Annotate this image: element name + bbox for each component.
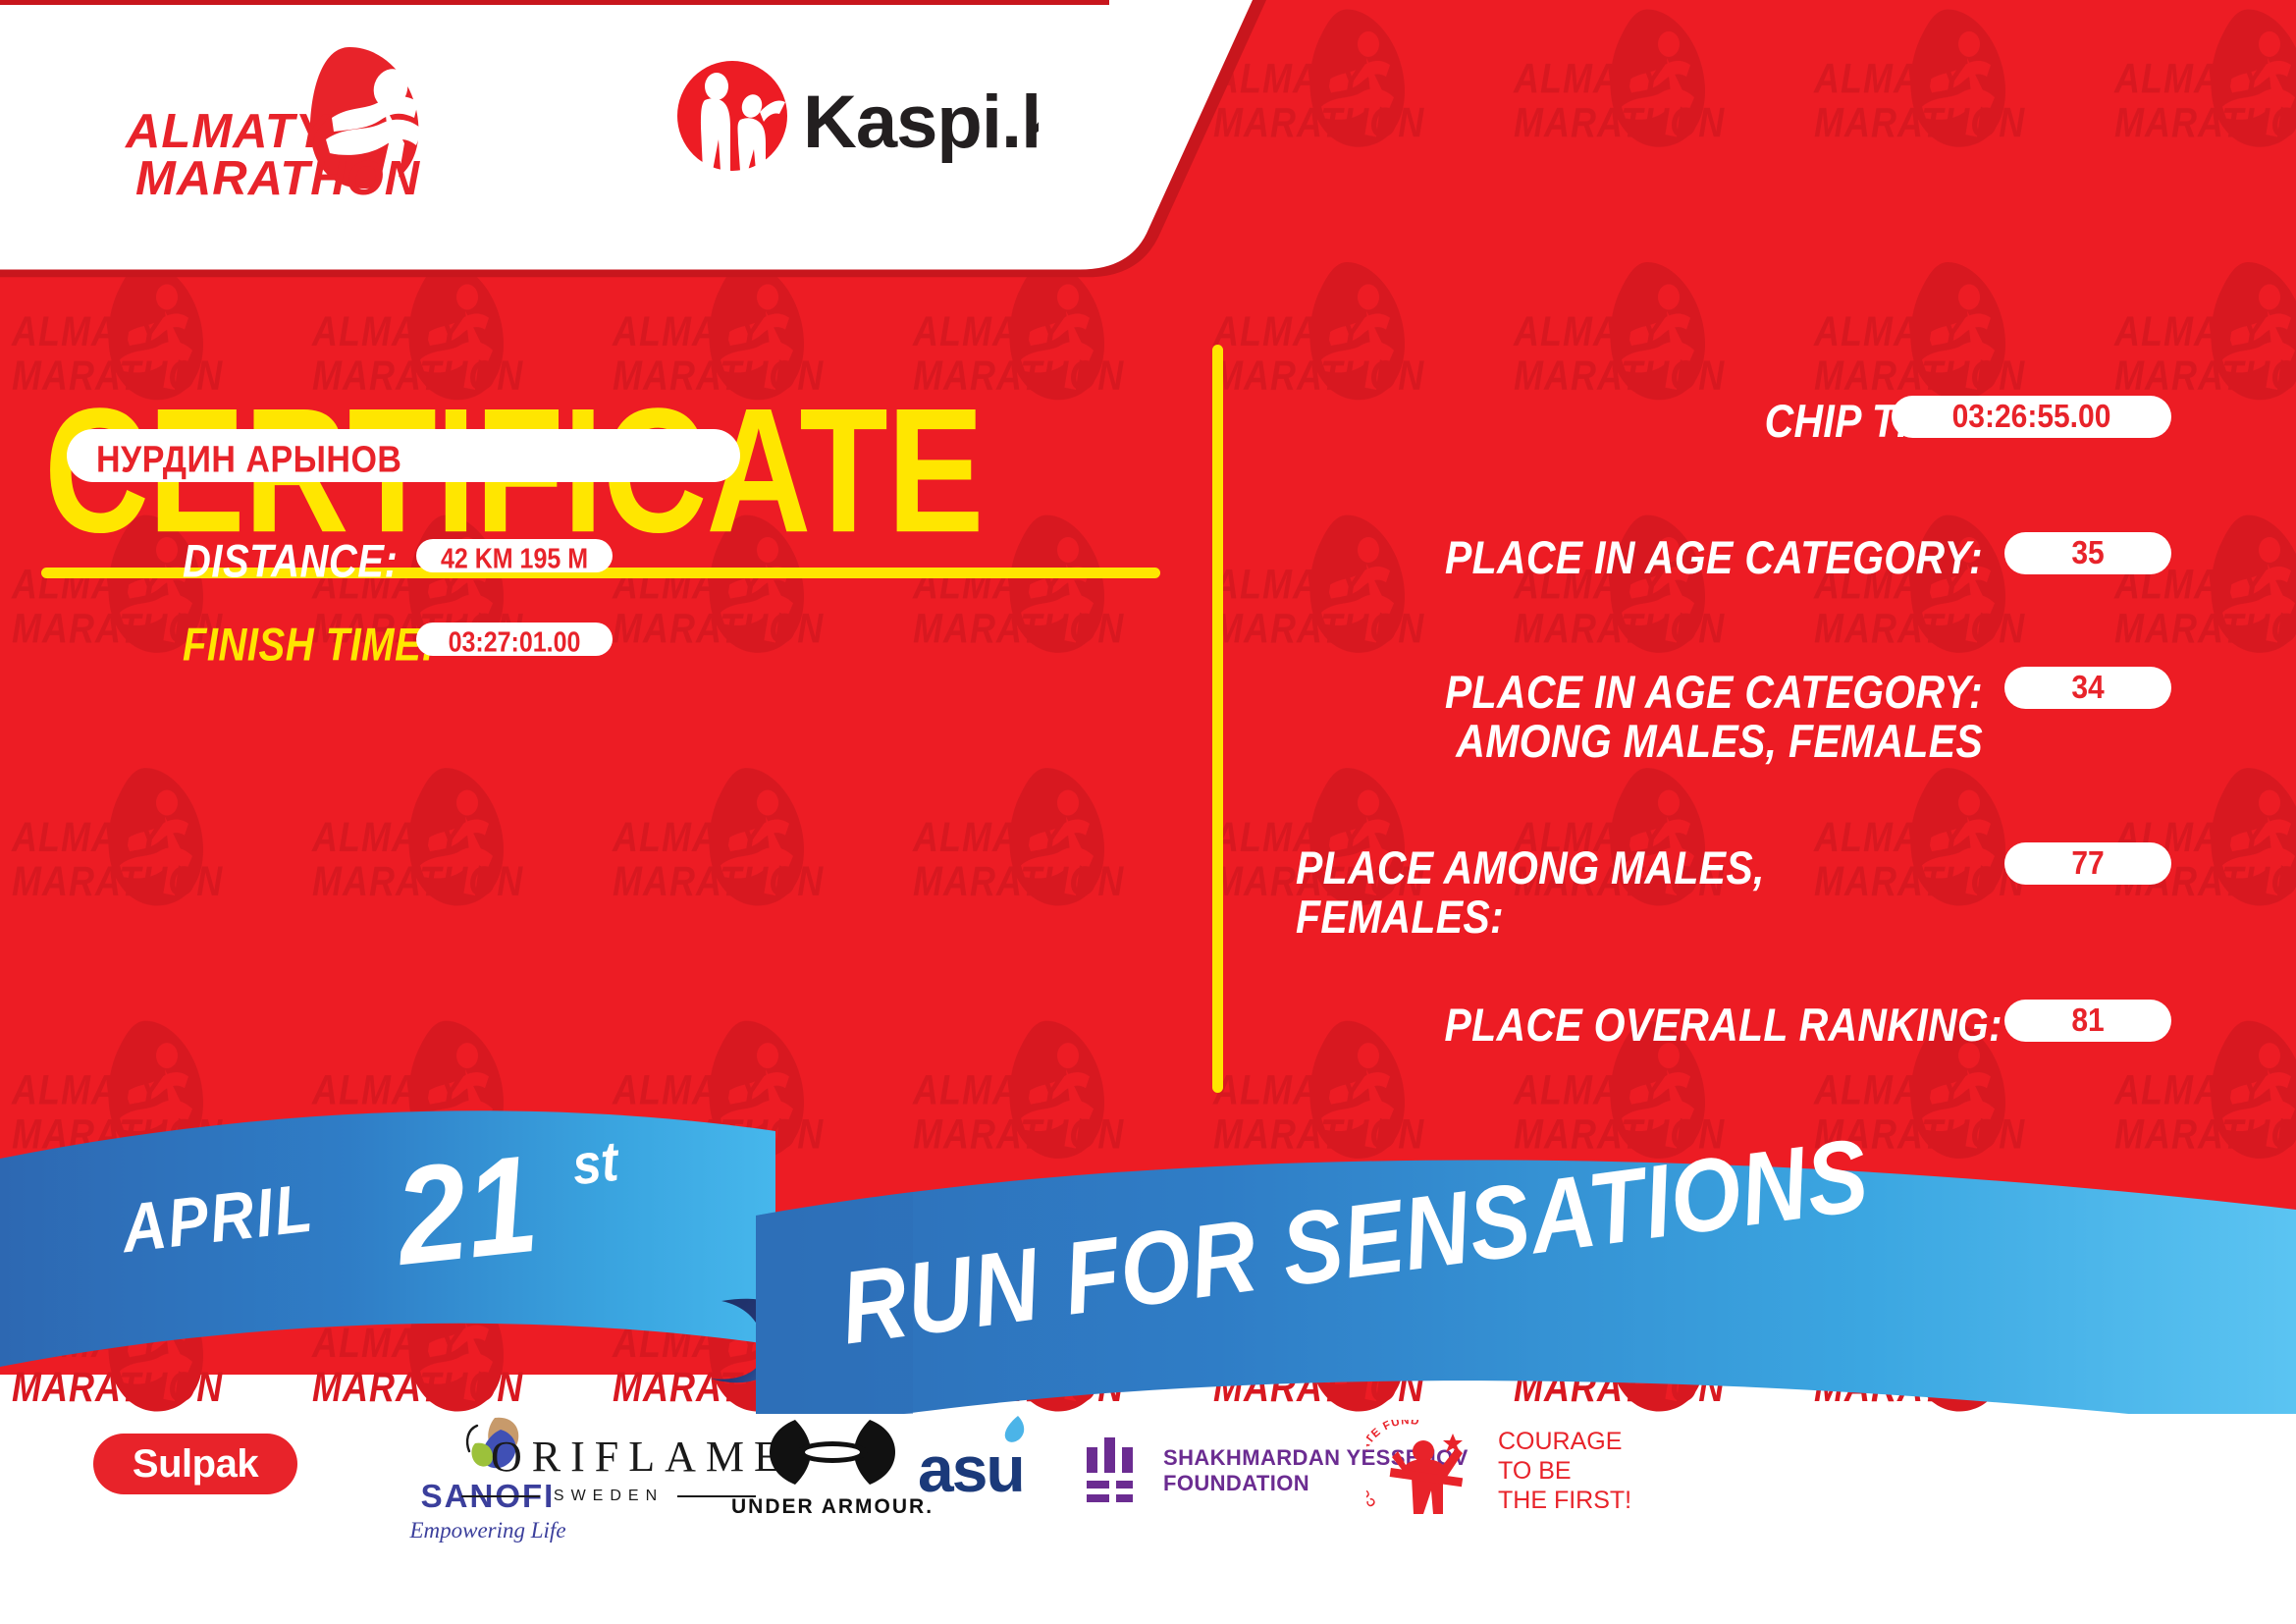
oriflame-sub: SWEDEN [554,1488,664,1505]
place-age-category-label: PLACE IN AGE CATEGORY: [1296,529,1983,586]
place-overall-label: PLACE OVERALL RANKING: [1256,997,2002,1054]
finish-time-label: FINISH TIME: [183,620,435,672]
sponsor-corporate-fund: CORPORATE FUND COURAGE TO BE THE FIRST! [1366,1420,1631,1522]
sulpak-label: Sulpak [133,1442,258,1487]
sulpak-logo: Sulpak [93,1434,297,1494]
under-armour-label: UNDER ARMOUR. [731,1495,934,1519]
under-armour-icon [754,1414,911,1490]
svg-text:MARATHON: MARATHON [135,152,421,198]
sponsor-asu: asu [918,1432,1024,1506]
yessenov-mark-icon [1085,1435,1146,1506]
finish-time-value: 03:27:01.00 [416,626,613,659]
svg-text:ALMATY: ALMATY [125,105,332,158]
corporate-fund-icon: CORPORATE FUND [1366,1420,1484,1522]
ribbon-ordinal: st [569,1129,621,1198]
sponsor-strip: Sulpak SANOFI Empowering Life ORIFLAME [0,1414,2296,1624]
asu-droplet-icon [1000,1414,1028,1443]
place-among-gender-value: 77 [2004,839,2171,887]
svg-text:Kaspi.kz: Kaspi.kz [803,81,1039,164]
corporate-fund-line1: COURAGE [1498,1427,1631,1456]
corporate-fund-line3: THE FIRST! [1498,1486,1631,1515]
place-among-gender-label-line2: FEMALES: [1296,889,1983,946]
chip-time-label: CHIP TIME: [1296,393,1983,450]
place-age-category-gender-label-line2: AMONG MALES, FEMALES [1296,713,1983,770]
almaty-marathon-logo: ALMATY MARATHON [118,41,442,198]
ribbon-day: 21 [389,1124,544,1297]
sanofi-tagline: Empowering Life [385,1518,591,1543]
certificate-canvas: ALMATY MARATHON ALMATY MARATHON [0,0,2296,1624]
place-overall-value: 81 [2004,997,2171,1044]
place-age-category-gender-value: 34 [2004,664,2171,711]
column-divider [1212,345,1223,1093]
sponsor-sulpak: Sulpak [93,1434,297,1494]
header-top-accent-line [0,0,1109,5]
chip-time-value: 03:26:55.00 [1892,393,2171,440]
kaspi-kz-logo: Kaspi.kz [675,57,1039,175]
sponsor-under-armour: UNDER ARMOUR. [731,1414,934,1519]
oriflame-rule-left [461,1495,540,1497]
distance-label: DISTANCE: [183,536,398,588]
distance-value: 42 KM 195 M [416,543,613,575]
athlete-name: НУРДИН АРЫНОВ [96,439,401,482]
corporate-fund-line2: TO BE [1498,1456,1631,1486]
place-age-category-value: 35 [2004,529,2171,576]
oriflame-leaf-icon [461,1422,495,1471]
